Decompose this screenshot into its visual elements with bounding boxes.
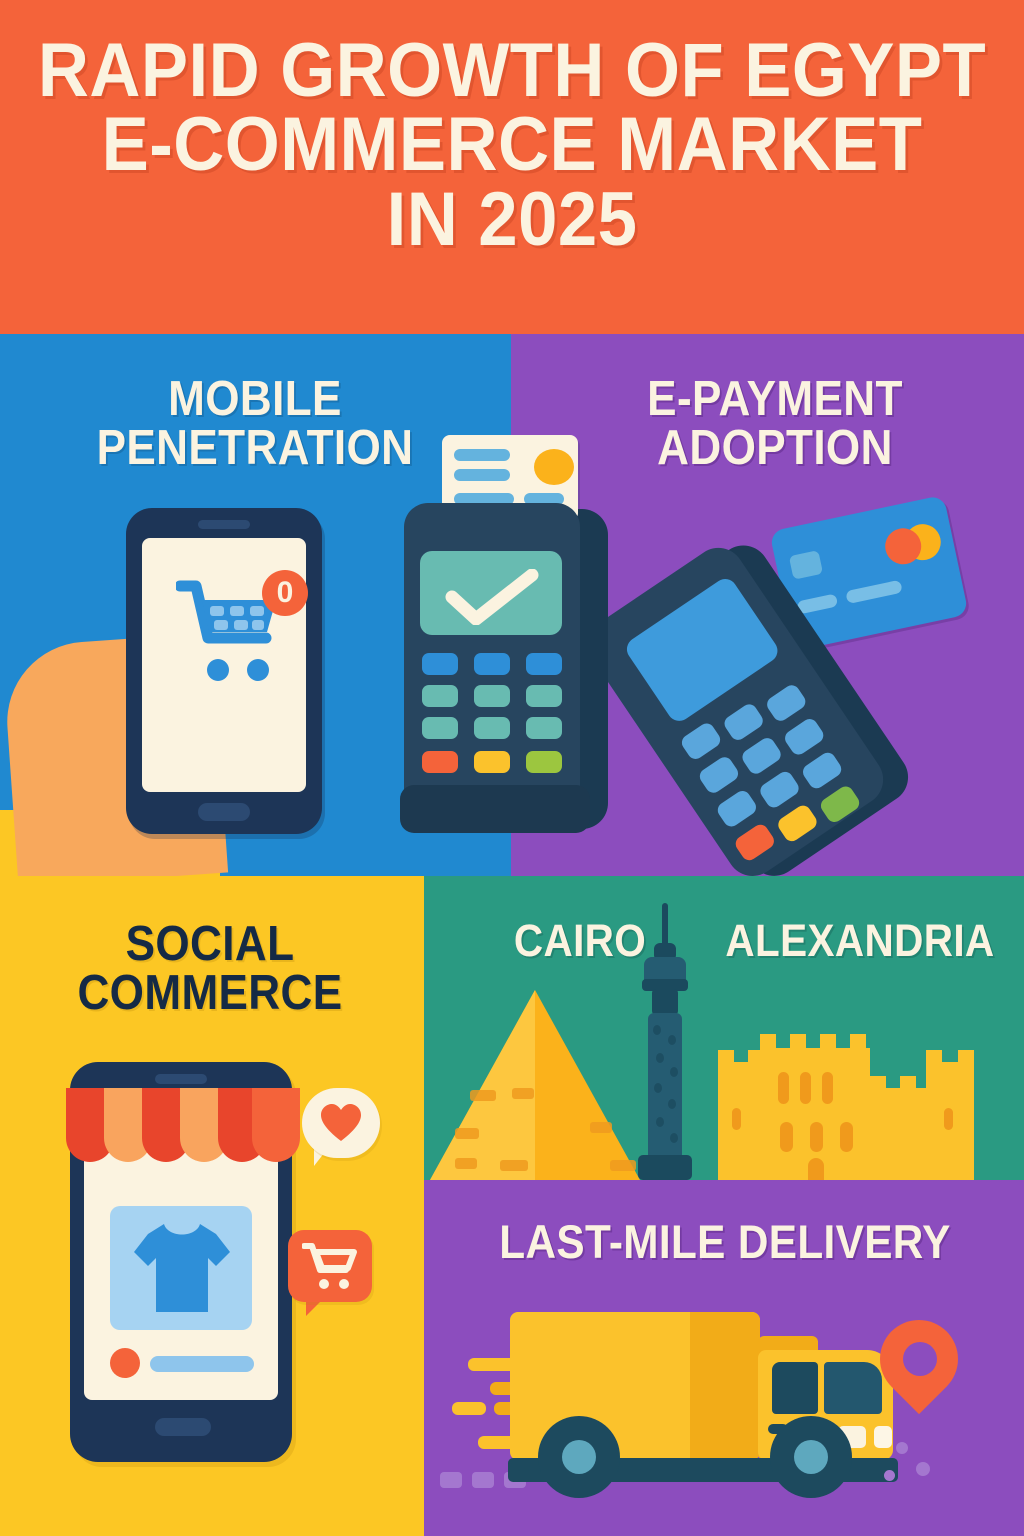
pos2-key <box>739 735 783 777</box>
citadel-wall-mid <box>870 1088 926 1180</box>
caption-mobile-line-1: MOBILE <box>44 375 467 424</box>
wheel-hub <box>562 1440 596 1474</box>
citadel-merlon <box>718 1050 734 1068</box>
truck-cargo-shade <box>690 1312 760 1460</box>
citadel-merlon <box>926 1050 942 1068</box>
receipt-line <box>454 469 510 481</box>
caption-epay-line-2: ADOPTION <box>564 424 987 473</box>
pyramid-highlight <box>430 990 535 1180</box>
shopping-cart-icon <box>302 1242 358 1290</box>
tower-lattice-dot <box>668 1099 676 1109</box>
citadel-window <box>840 1122 853 1152</box>
tower-lattice-dot <box>653 1025 661 1035</box>
pos1-key <box>526 717 562 739</box>
pos2-screen <box>622 574 782 725</box>
tower-shaft <box>648 1013 682 1161</box>
citadel-merlon <box>850 1034 866 1052</box>
truck-window-right <box>824 1362 882 1414</box>
citadel-merlon <box>900 1076 916 1094</box>
tower-neck <box>652 989 678 1015</box>
tower-lattice-dot <box>670 1133 678 1143</box>
pos1-key <box>526 653 562 675</box>
pyramid-brick <box>500 1160 528 1171</box>
pos1-key <box>422 685 458 707</box>
pos1-key-cancel <box>422 751 458 773</box>
pyramid-brick <box>455 1158 477 1169</box>
caption-last-mile-delivery: LAST-MILE DELIVERY <box>460 1218 991 1265</box>
checkmark-icon <box>444 569 540 625</box>
like-dot <box>110 1348 140 1378</box>
gravel-dot <box>896 1442 908 1454</box>
title-line-3: IN 2025 <box>36 183 988 257</box>
caption-social-line-2: COMMERCE <box>21 969 399 1018</box>
phone2-home-button <box>155 1418 211 1436</box>
phone2-speaker <box>155 1074 207 1084</box>
tower-lattice-dot <box>668 1035 676 1045</box>
alexandria-citadel-icon <box>712 1026 992 1180</box>
citadel-window <box>822 1072 833 1104</box>
phone-home-button <box>198 803 250 821</box>
tower-lattice-dot <box>670 1067 678 1077</box>
pos2-key <box>715 788 759 830</box>
caption-cairo: CAIRO <box>454 918 706 963</box>
heart-icon <box>320 1104 362 1142</box>
caption-alexandria: ALEXANDRIA <box>716 918 1004 963</box>
smartphone-social-commerce <box>70 1062 292 1462</box>
pos1-key <box>474 717 510 739</box>
receipt-line <box>454 449 510 461</box>
caption-epay-line-1: E-PAYMENT <box>564 375 987 424</box>
caption-epayment-adoption: E-PAYMENT ADOPTION <box>564 375 987 473</box>
pin-hole <box>903 1342 937 1376</box>
tower-base <box>638 1155 692 1180</box>
phone-speaker <box>198 520 250 529</box>
cart-notification-badge: 0 <box>262 570 308 616</box>
title-line-2: E-COMMERCE MARKET <box>36 108 988 182</box>
pyramid-brick <box>512 1088 534 1099</box>
pos1-key <box>526 685 562 707</box>
awning-scallop <box>252 1088 300 1162</box>
pos2-key <box>782 716 826 758</box>
location-pin-icon <box>880 1320 958 1430</box>
pos-terminal-upright <box>404 495 604 831</box>
pos1-key <box>422 717 458 739</box>
pos2-key <box>721 701 765 743</box>
pos1-body <box>404 503 580 829</box>
citadel-window <box>810 1122 823 1152</box>
title-line-1: RAPID GROWTH OF EGYPT <box>36 34 988 108</box>
pyramid-brick <box>470 1090 496 1101</box>
citadel-merlon <box>790 1034 806 1052</box>
pos1-key <box>422 653 458 675</box>
pos2-key <box>757 769 801 811</box>
caption-bar <box>150 1356 254 1372</box>
caption-delivery-line-1: LAST-MILE DELIVERY <box>460 1218 991 1265</box>
citadel-merlon <box>760 1034 776 1052</box>
caption-social-commerce: SOCIAL COMMERCE <box>21 920 399 1018</box>
citadel-tower-left <box>718 1062 764 1180</box>
pos1-base <box>400 785 590 833</box>
citadel-window <box>778 1072 789 1104</box>
road-dash <box>440 1472 462 1488</box>
phone-screen: 0 <box>142 538 306 792</box>
caption-mobile-line-2: PENETRATION <box>44 424 467 473</box>
pos2-key <box>764 682 808 724</box>
truck-wheel-rear <box>538 1416 620 1498</box>
caption-mobile-penetration: MOBILE PENETRATION <box>44 375 467 473</box>
pos2-key-clear <box>775 803 819 845</box>
citadel-window <box>780 1122 793 1152</box>
gravel-dot <box>884 1470 895 1481</box>
caption-social-line-1: SOCIAL <box>21 920 399 969</box>
caption-cairo-label: CAIRO <box>454 918 706 963</box>
citadel-window <box>800 1072 811 1104</box>
pos2-key <box>679 720 723 762</box>
truck-wheel-front <box>770 1416 852 1498</box>
caption-alexandria-label: ALEXANDRIA <box>716 918 1004 963</box>
citadel-window <box>944 1108 953 1130</box>
delivery-truck-icon <box>480 1300 920 1500</box>
infographic-poster: RAPID GROWTH OF EGYPT E-COMMERCE MARKET … <box>0 0 1024 1536</box>
citadel-window <box>732 1108 741 1130</box>
pos1-key <box>474 653 510 675</box>
citadel-merlon <box>958 1050 974 1068</box>
tower-lattice-dot <box>654 1083 662 1093</box>
pos1-key-enter <box>526 751 562 773</box>
gravel-dot <box>916 1462 930 1476</box>
page-title: RAPID GROWTH OF EGYPT E-COMMERCE MARKET … <box>36 34 988 257</box>
pyramid-brick <box>455 1128 479 1139</box>
pos2-key-cancel <box>733 822 777 864</box>
tower-lattice-dot <box>656 1053 664 1063</box>
like-speech-bubble <box>302 1088 380 1158</box>
shop-awning-icon <box>66 1088 298 1166</box>
pos2-key <box>697 754 741 796</box>
truck-window-left <box>772 1362 818 1414</box>
smartphone-mobile-penetration: 0 <box>126 508 322 834</box>
citadel-merlon <box>820 1034 836 1052</box>
pos1-key-clear <box>474 751 510 773</box>
tshirt-icon <box>130 1218 234 1318</box>
wheel-hub <box>794 1440 828 1474</box>
pos2-key <box>800 750 844 792</box>
citadel-gate <box>808 1158 824 1180</box>
tower-lattice-dot <box>656 1117 664 1127</box>
cart-badge-bubble <box>288 1230 372 1302</box>
citadel-merlon <box>870 1076 886 1094</box>
pos1-key <box>474 685 510 707</box>
pyramid-brick <box>590 1122 612 1133</box>
